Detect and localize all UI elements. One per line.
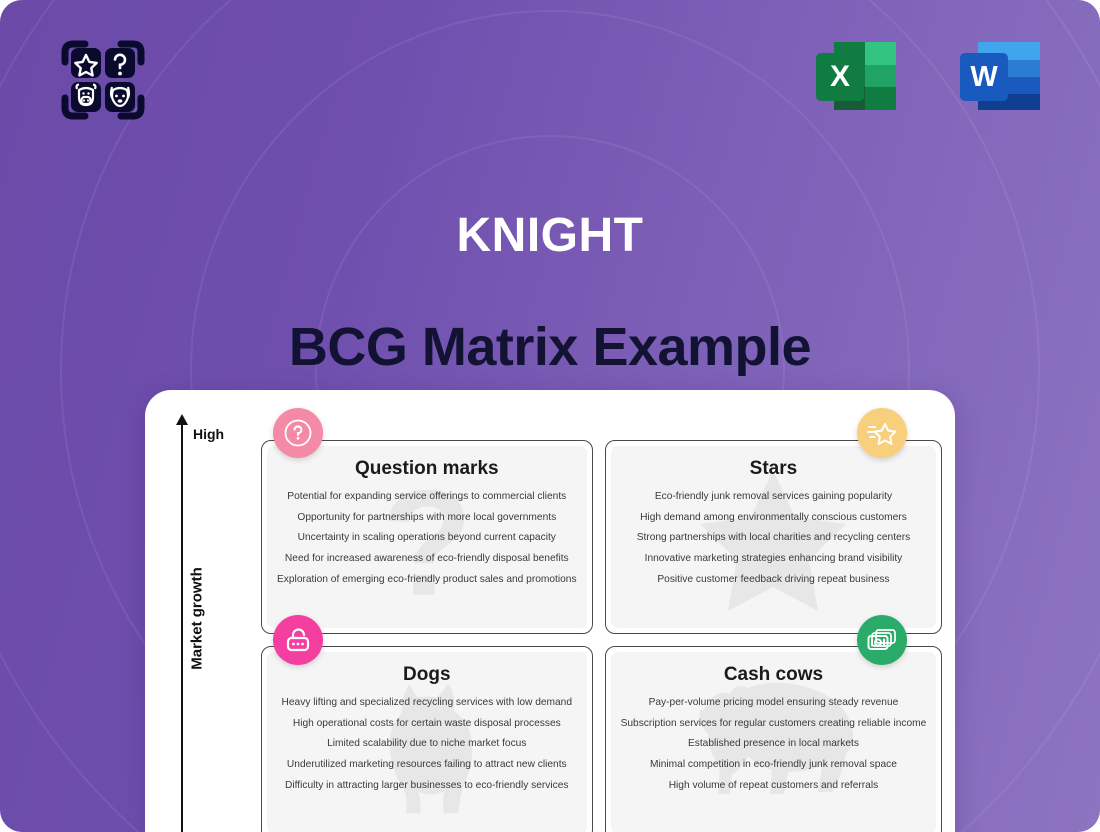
banknotes-badge[interactable] <box>857 615 907 665</box>
bullet-item: High volume of repeat customers and refe… <box>621 780 927 792</box>
bullet-item: Limited scalability due to niche market … <box>277 738 577 750</box>
axis-high-label: High <box>193 426 224 442</box>
page-title: BCG Matrix Example <box>0 316 1100 378</box>
bullet-item: Underutilized marketing resources failin… <box>277 759 577 771</box>
bullet-item: Heavy lifting and specialized recycling … <box>277 697 577 709</box>
bullet-item: Eco-friendly junk removal services gaini… <box>621 491 927 503</box>
bullet-item: Need for increased awareness of eco-frie… <box>277 553 577 565</box>
quadrant-bullets: Pay-per-volume pricing model ensuring st… <box>621 697 927 792</box>
quadrant-stars[interactable]: Stars Eco-friendly junk removal services… <box>605 440 943 634</box>
bullet-item: Uncertainty in scaling operations beyond… <box>277 532 577 544</box>
quadrant-title: Stars <box>621 458 927 480</box>
bullet-item: Pay-per-volume pricing model ensuring st… <box>621 697 927 709</box>
bullet-item: Opportunity for partnerships with more l… <box>277 512 577 524</box>
quadrant-grid: ? Question marks Potential for expanding… <box>261 440 933 832</box>
quadrant-dogs[interactable]: Dogs Heavy lifting and specialized recyc… <box>261 646 593 832</box>
bullet-item: Minimal competition in eco-friendly junk… <box>621 759 927 771</box>
axis-vertical-label: Market growth <box>189 559 206 679</box>
quadrant-title: Dogs <box>277 664 577 686</box>
bullet-item: Exploration of emerging eco-friendly pro… <box>277 574 577 586</box>
quadrant-bullets: Potential for expanding service offering… <box>277 491 577 586</box>
axis-line <box>181 422 183 832</box>
banknotes-icon <box>866 625 898 655</box>
bullet-item: High operational costs for certain waste… <box>277 718 577 730</box>
word-icon: W <box>952 26 1052 126</box>
question-mark-icon <box>283 418 313 448</box>
bcg-matrix-logo <box>55 32 151 128</box>
bullet-item: Innovative marketing strategies enhancin… <box>621 553 927 565</box>
bcg-matrix-panel: High Market growth ? Question marks Pote… <box>145 390 955 832</box>
padlock-badge[interactable] <box>273 615 323 665</box>
slide-canvas: X W KNIGHT BCG Matrix Example High Marke… <box>0 0 1100 832</box>
svg-text:X: X <box>830 60 850 93</box>
bullet-item: Subscription services for regular custom… <box>621 718 927 730</box>
star-icon <box>866 417 898 449</box>
question-mark-badge[interactable] <box>273 408 323 458</box>
office-icon-group: X W <box>808 26 1052 126</box>
star-badge[interactable] <box>857 408 907 458</box>
bullet-item: Difficulty in attracting larger business… <box>277 780 577 792</box>
bullet-item: Potential for expanding service offering… <box>277 491 577 503</box>
bullet-item: Strong partnerships with local charities… <box>621 532 927 544</box>
quadrant-question-marks[interactable]: ? Question marks Potential for expanding… <box>261 440 593 634</box>
quadrant-bullets: Heavy lifting and specialized recycling … <box>277 697 577 792</box>
bullet-item: Positive customer feedback driving repea… <box>621 574 927 586</box>
bullet-item: High demand among environmentally consci… <box>621 512 927 524</box>
padlock-icon <box>283 625 313 655</box>
svg-text:W: W <box>970 61 998 93</box>
quadrant-title: Cash cows <box>621 664 927 686</box>
quadrant-cash-cows[interactable]: Cash cows Pay-per-volume pricing model e… <box>605 646 943 832</box>
quadrant-title: Question marks <box>277 458 577 480</box>
quadrant-bullets: Eco-friendly junk removal services gaini… <box>621 491 927 586</box>
bullet-item: Established presence in local markets <box>621 738 927 750</box>
excel-icon: X <box>808 26 908 126</box>
brand-title: KNIGHT <box>0 208 1100 263</box>
